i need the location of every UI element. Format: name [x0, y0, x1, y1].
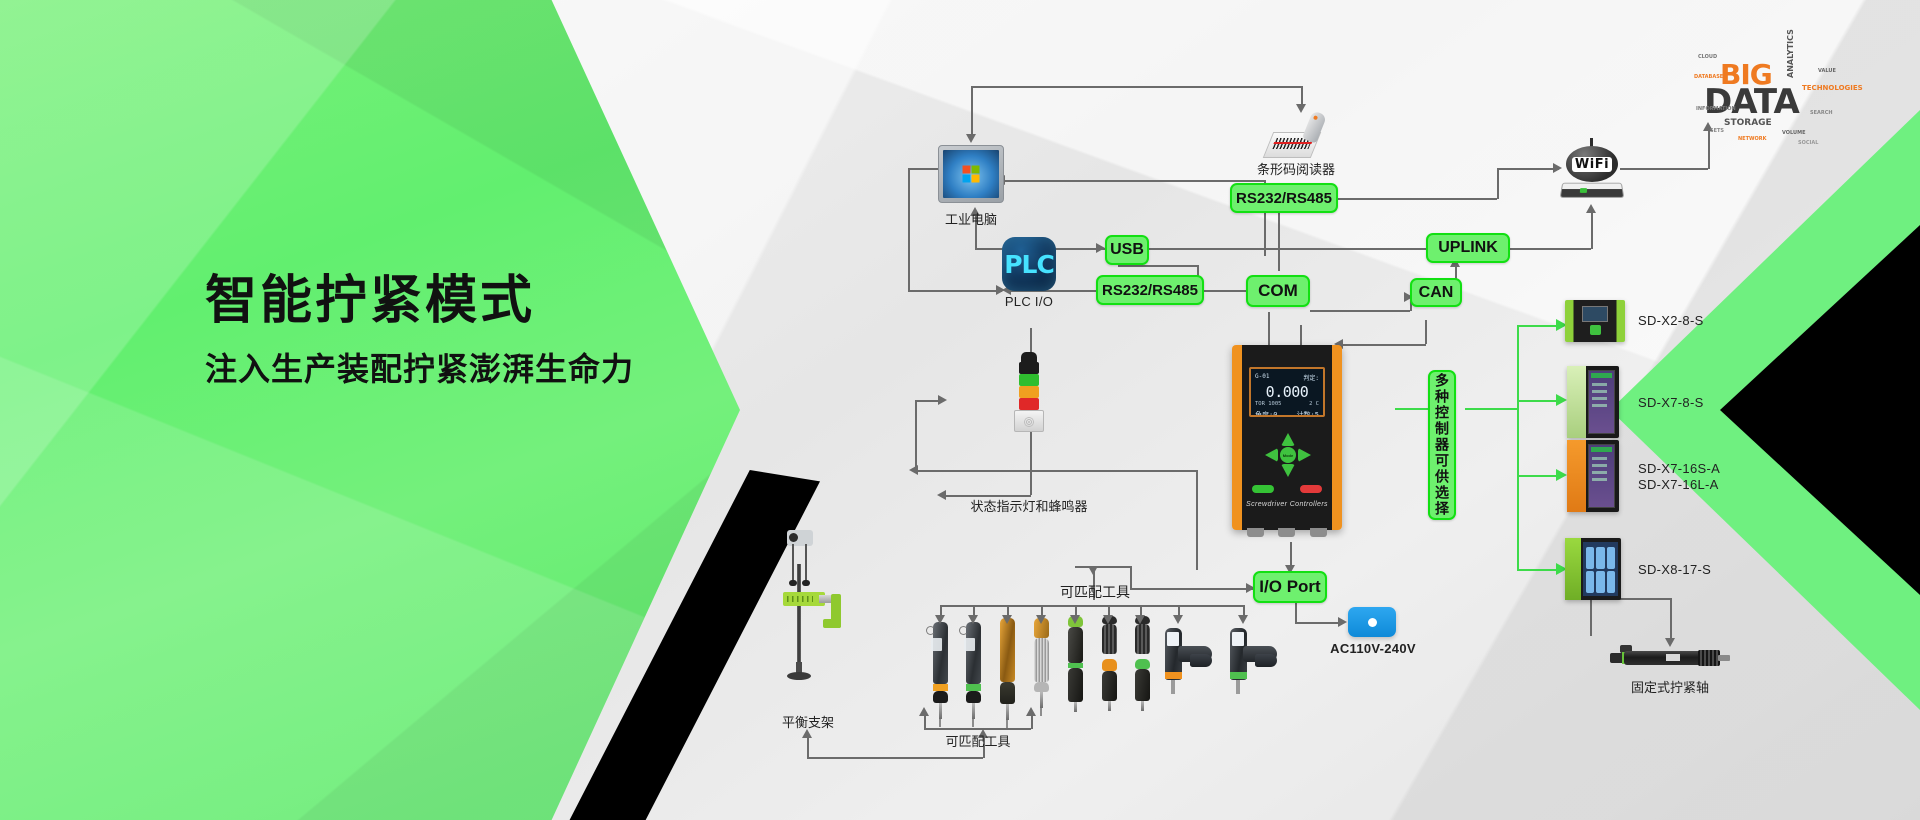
- connector: [807, 757, 983, 759]
- dpad-right-button[interactable]: [1298, 448, 1311, 462]
- controller-thumb-x7-8s[interactable]: [1567, 366, 1619, 438]
- arrow-down: [1088, 566, 1098, 575]
- tool-item[interactable]: [1227, 618, 1279, 698]
- port-can-label: CAN: [1419, 284, 1454, 302]
- power-label: AC110V-240V: [1320, 641, 1426, 656]
- controller-x8-icon: [1565, 538, 1621, 600]
- fixed-spindle-icon: [1610, 645, 1730, 671]
- stack-light-seg-amber: [1019, 386, 1039, 398]
- arrow-down: [1135, 615, 1145, 624]
- controller-thumb-x2[interactable]: [1565, 300, 1625, 342]
- port-can[interactable]: CAN: [1410, 278, 1462, 307]
- big-data-wordcloud-icon: BIG DATA ANALYTICS TECHNOLOGIES STORAGE …: [1690, 48, 1840, 158]
- barcode-reader-label: 条形码阅读器: [1240, 159, 1352, 178]
- connector: [924, 714, 926, 729]
- connector: [1295, 622, 1343, 624]
- port-uplink[interactable]: UPLINK: [1426, 233, 1510, 263]
- wordcloud-term: CLOUD: [1698, 54, 1717, 60]
- port-usb[interactable]: USB: [1105, 235, 1149, 265]
- connector: [971, 86, 973, 138]
- wordcloud-term: DATABASE: [1694, 74, 1723, 80]
- connector: [1590, 598, 1592, 636]
- controller-model-4: SD-X8-17-S: [1638, 562, 1711, 577]
- controller-x7-8s-icon: [1567, 366, 1619, 438]
- connector: [1620, 168, 1708, 170]
- port-io[interactable]: I/O Port: [1253, 571, 1327, 603]
- arrow-down: [1238, 615, 1248, 624]
- connector: [1425, 320, 1427, 344]
- wordcloud-term: VALUE: [1818, 68, 1836, 74]
- barcode-reader-icon: [1268, 112, 1324, 160]
- arrow-down: [1036, 615, 1046, 624]
- tools-bottom-label: 可匹配工具: [918, 731, 1038, 750]
- arrow-down: [1070, 615, 1080, 624]
- arrow-right-green: [1556, 469, 1567, 481]
- wifi-badge: WiFi: [1566, 146, 1618, 182]
- wifi-icon: WiFi: [1561, 146, 1623, 198]
- page-subtitle: 注入生产装配拧紧澎湃生命力: [205, 344, 634, 390]
- connector: [940, 605, 1243, 607]
- hero-text-block: 智能拧紧模式 注入生产装配拧紧澎湃生命力: [205, 272, 634, 390]
- lcd-count: 计数:5: [1297, 410, 1319, 417]
- stack-light-buzzer: [1014, 410, 1044, 432]
- arrow-right: [1338, 617, 1347, 627]
- arrow-left: [909, 465, 918, 475]
- connector: [915, 470, 1197, 472]
- controller-choice-text: 多种控制器可供选择: [1435, 373, 1449, 517]
- connector: [1337, 198, 1497, 200]
- connector: [971, 86, 1303, 88]
- big-data-data-text: DATA: [1704, 82, 1799, 122]
- lcd-row-top: G-01 判定:: [1255, 373, 1319, 382]
- controller-brand-text: Screwdriver Controllers: [1232, 501, 1342, 508]
- lcd-torque-code: TOR 1005: [1255, 401, 1282, 407]
- arrow-right-green: [1556, 394, 1567, 406]
- port-com-label: COM: [1258, 281, 1298, 301]
- port-rs232-top[interactable]: RS232/RS485: [1230, 183, 1338, 213]
- status-stack-light[interactable]: [1014, 352, 1044, 426]
- connector: [915, 400, 917, 471]
- connector: [1591, 212, 1593, 249]
- connector-green: [1517, 325, 1561, 327]
- lcd-temp: 2 C: [1309, 401, 1319, 407]
- port-rs232-left-label: RS232/RS485: [1102, 282, 1198, 299]
- tool-item[interactable]: [1030, 618, 1052, 716]
- lcd-row-mid: TOR 1005 2 C: [1255, 401, 1319, 407]
- connector: [1148, 248, 1426, 250]
- wifi-router[interactable]: WiFi: [1561, 146, 1623, 198]
- wordcloud-term: VOLUME: [1782, 130, 1806, 136]
- balance-arm-icon: [775, 530, 847, 680]
- dpad-up-button[interactable]: [1281, 433, 1295, 446]
- return-button[interactable]: [1252, 485, 1274, 493]
- wordcloud-term: NETWORK: [1738, 136, 1767, 142]
- connector: [908, 168, 910, 290]
- controller-model-0: SD-X2-8-S: [1638, 313, 1704, 328]
- connector: [1670, 598, 1672, 642]
- controller-choice-label: 多种控制器可供选择: [1428, 370, 1456, 520]
- page-title: 智能拧紧模式: [205, 272, 634, 332]
- arrow-down: [1173, 615, 1183, 624]
- tool-item[interactable]: [1098, 616, 1120, 711]
- industrial-pc[interactable]: [938, 145, 1004, 203]
- arrow-left: [937, 490, 946, 500]
- controller-x2-icon: [1565, 300, 1625, 342]
- arrow-right: [1096, 243, 1105, 253]
- power-brick-icon: [1348, 607, 1396, 637]
- arrow-down: [968, 615, 978, 624]
- port-io-label: I/O Port: [1259, 577, 1320, 597]
- tools-top-label: 可匹配工具: [1035, 582, 1155, 602]
- plc-device[interactable]: PLC: [1002, 237, 1056, 291]
- connector: [1340, 344, 1426, 346]
- port-usb-label: USB: [1110, 241, 1144, 259]
- dpad-down-button[interactable]: [1281, 464, 1295, 477]
- arrow-up: [1026, 707, 1036, 716]
- barcode-scanner-icon: [1302, 110, 1327, 143]
- connector-green: [1465, 408, 1517, 410]
- connector: [908, 290, 1002, 292]
- power-supply[interactable]: [1348, 607, 1396, 637]
- tool-item[interactable]: [1131, 616, 1153, 711]
- industrial-pc-label: 工业电脑: [938, 209, 1004, 228]
- wordcloud-term: TECHNOLOGIES: [1802, 84, 1863, 92]
- connector-green: [1517, 400, 1561, 402]
- wordcloud-term: STORAGE: [1724, 118, 1772, 128]
- port-com[interactable]: COM: [1246, 275, 1310, 307]
- port-rs232-left[interactable]: RS232/RS485: [1096, 275, 1204, 305]
- controller-dpad[interactable]: Mode: [1265, 433, 1311, 477]
- stack-light-seg-black: [1019, 362, 1039, 374]
- onoff-button[interactable]: [1300, 485, 1322, 493]
- connector: [1196, 470, 1198, 570]
- wordcloud-term: ANALYTICS: [1786, 29, 1795, 78]
- connector: [1497, 168, 1559, 170]
- connector: [1497, 168, 1499, 199]
- connector-green: [1517, 475, 1561, 477]
- arrow-right: [938, 395, 947, 405]
- wordcloud-term: INFORMATION: [1696, 106, 1736, 112]
- dpad-left-button[interactable]: [1265, 448, 1278, 462]
- port-uplink-label: UPLINK: [1438, 239, 1498, 257]
- controller-thumb-x7-16[interactable]: [1567, 440, 1619, 512]
- fixed-spindle-label: 固定式拧紧轴: [1590, 677, 1750, 696]
- stack-light-seg-green: [1019, 374, 1039, 386]
- connector: [1031, 714, 1033, 729]
- plc-icon: PLC: [1002, 237, 1056, 291]
- connector: [1295, 600, 1297, 622]
- connector: [1496, 248, 1591, 250]
- big-data-cloud: BIG DATA ANALYTICS TECHNOLOGIES STORAGE …: [1690, 48, 1840, 158]
- lcd-row-bottom: 角度:0 计数:5: [1255, 410, 1319, 417]
- status-light-label: 状态指示灯和蜂鸣器: [959, 496, 1099, 515]
- lcd-value: 0.000: [1255, 383, 1319, 401]
- arrow-down: [935, 615, 945, 624]
- stack-light-seg-red: [1019, 398, 1039, 410]
- banner-stage: 智能拧紧模式 注入生产装配拧紧澎湃生命力: [0, 0, 1920, 820]
- tool-item[interactable]: [962, 622, 984, 727]
- wordcloud-term: SOCIAL: [1798, 140, 1818, 146]
- connector-green: [1517, 325, 1519, 569]
- balance-arm[interactable]: [775, 530, 847, 680]
- arrow-down: [1103, 615, 1113, 624]
- controller-model-1: SD-X7-8-S: [1638, 395, 1704, 410]
- tool-item[interactable]: [1162, 618, 1214, 698]
- wordcloud-term: SEARCH: [1810, 110, 1833, 116]
- port-rs232-top-label: RS232/RS485: [1236, 190, 1332, 207]
- plc-io-label: PLC I/O: [984, 294, 1074, 309]
- tool-item[interactable]: [929, 622, 951, 727]
- connector: [1310, 310, 1410, 312]
- controller-thumb-x8[interactable]: [1565, 538, 1621, 600]
- connector: [807, 736, 809, 758]
- controller-x7-16-icon: [1567, 440, 1619, 512]
- fixed-spindle[interactable]: [1610, 645, 1730, 671]
- tool-item[interactable]: [996, 618, 1018, 728]
- wordcloud-term: SETS: [1710, 128, 1724, 134]
- arrow-up: [919, 707, 929, 716]
- tool-item[interactable]: [1064, 616, 1086, 712]
- arrow-down: [966, 134, 976, 143]
- connector: [1005, 180, 1265, 182]
- main-controller[interactable]: G-01 判定: 0.000 TOR 1005 2 C 角度:0 计数:5: [1232, 345, 1342, 530]
- connector: [1075, 566, 1131, 568]
- dpad-mode-button[interactable]: Mode: [1280, 447, 1296, 463]
- industrial-pc-screen: [943, 150, 999, 198]
- stack-light-cap: [1021, 352, 1037, 362]
- lcd-judge-label: 判定:: [1303, 373, 1319, 382]
- controller-lcd: G-01 判定: 0.000 TOR 1005 2 C 角度:0 计数:5: [1249, 367, 1325, 417]
- lcd-angle: 角度:0: [1255, 410, 1277, 417]
- connector: [1118, 265, 1198, 267]
- lcd-program: G-01: [1255, 373, 1269, 382]
- balance-arm-label: 平衡支架: [768, 712, 848, 731]
- controller-rear-ports: [1240, 528, 1334, 537]
- arrow-up: [1586, 204, 1596, 213]
- barcode-reader[interactable]: [1268, 112, 1324, 160]
- controller-model-2: SD-X7-16S-A: [1638, 461, 1720, 476]
- connector-green: [1517, 569, 1561, 571]
- main-controller-body: G-01 判定: 0.000 TOR 1005 2 C 角度:0 计数:5: [1232, 345, 1342, 530]
- windows-logo-icon: [963, 166, 980, 183]
- controller-model-3: SD-X7-16L-A: [1638, 477, 1719, 492]
- router-base-icon: [1560, 183, 1625, 198]
- industrial-pc-monitor: [938, 145, 1004, 203]
- stack-light-icon: [1014, 352, 1044, 426]
- arrow-down: [1002, 615, 1012, 624]
- wifi-label: WiFi: [1572, 157, 1612, 172]
